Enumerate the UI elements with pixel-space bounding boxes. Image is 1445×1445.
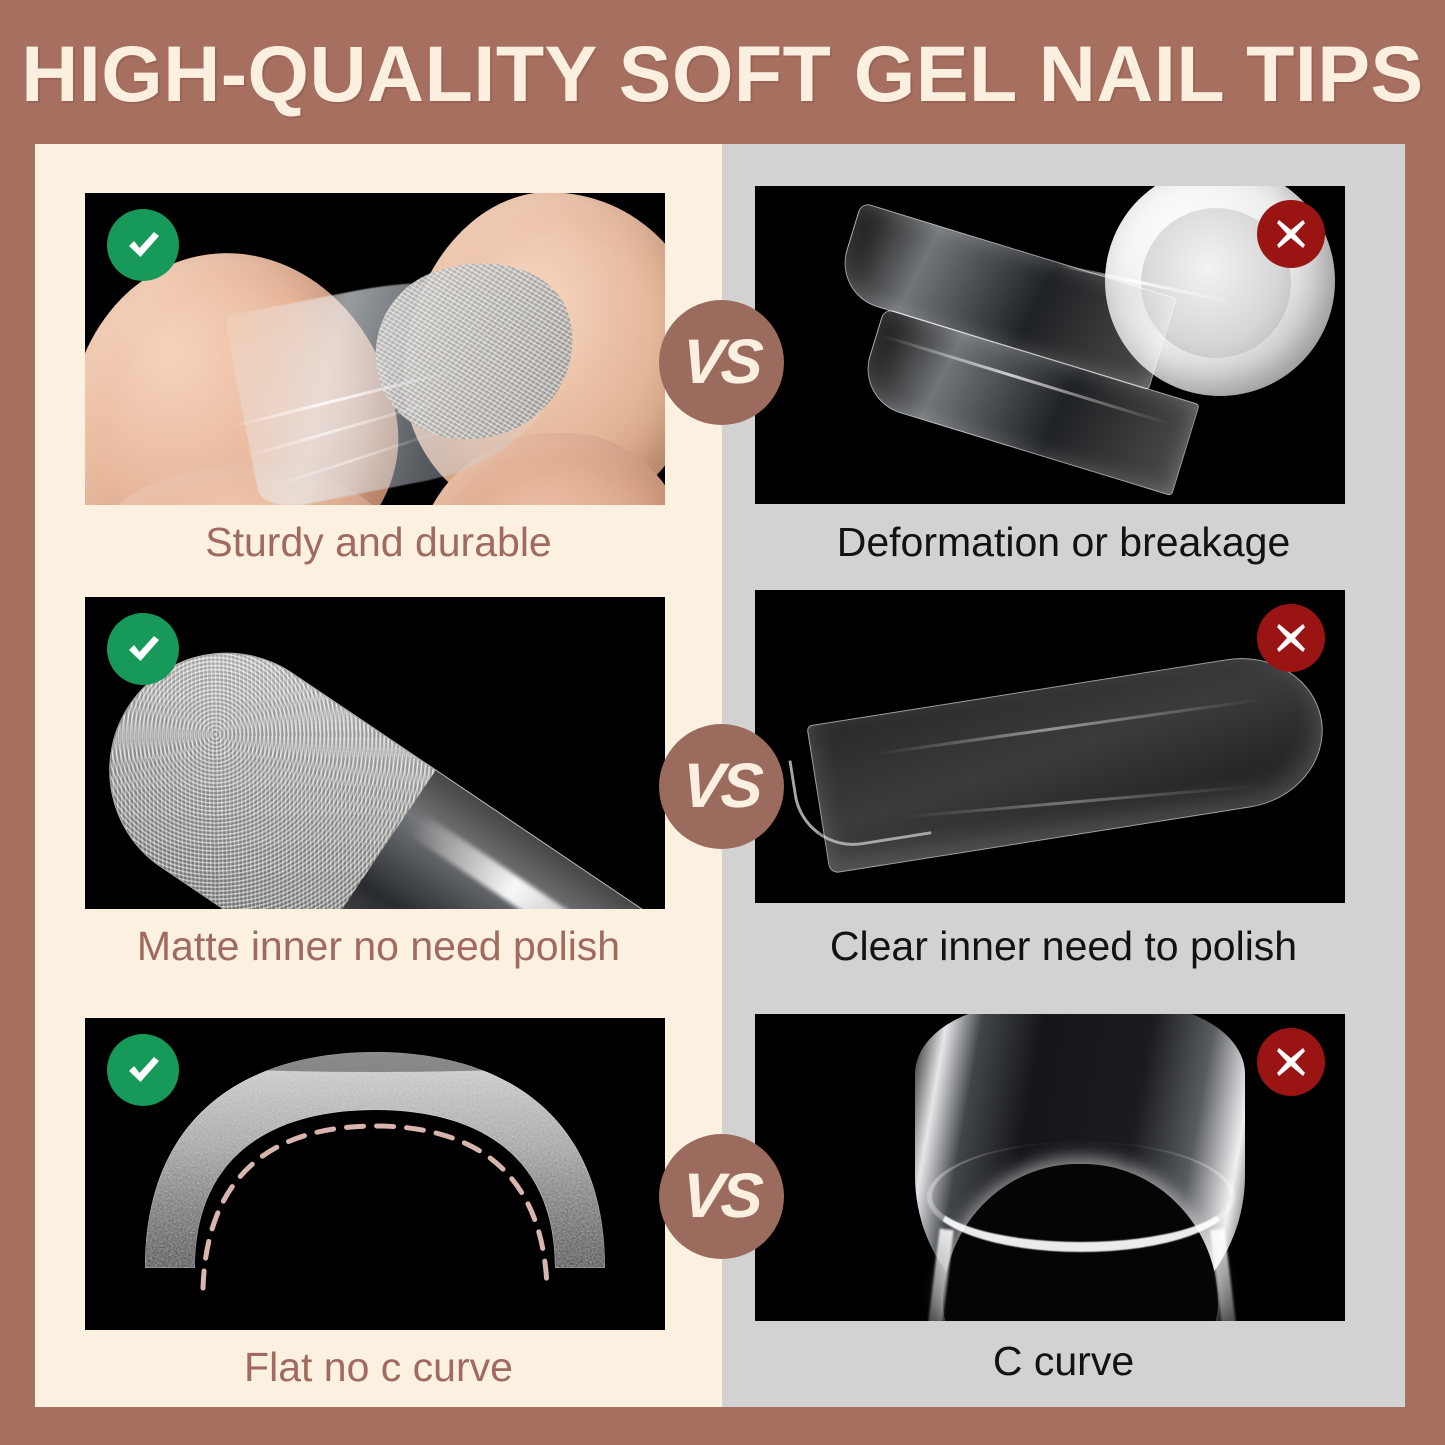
close-icon: [1270, 213, 1312, 255]
vs-badge-row-2: VS: [659, 724, 784, 849]
comparison-row-3-good: Flat no c curve: [35, 992, 722, 1407]
check-icon: [121, 223, 165, 267]
vs-label: VS: [680, 1165, 762, 1228]
photo-clear-inner: [755, 590, 1345, 903]
comparison-row-2-bad: Clear inner need to polish: [722, 568, 1405, 992]
photo-c-curve: [755, 1014, 1345, 1321]
caption-deformation-breakage: Deformation or breakage: [722, 516, 1405, 568]
comparison-row-1-bad: Deformation or breakage: [722, 144, 1405, 568]
check-badge: [107, 1034, 179, 1106]
caption-clear-inner: Clear inner need to polish: [722, 920, 1405, 972]
check-badge: [107, 613, 179, 685]
vs-label: VS: [680, 755, 762, 818]
flat-profile-dashed-line: [203, 1126, 547, 1288]
photo-deformation-breakage: [755, 186, 1345, 504]
caption-sturdy-durable: Sturdy and durable: [35, 516, 722, 568]
check-badge: [107, 209, 179, 281]
photo-flat-no-c-curve: [85, 1018, 665, 1330]
comparison-row-2-good: Matte inner no need polish: [35, 568, 722, 992]
vs-badge-row-1: VS: [659, 300, 784, 425]
check-icon: [121, 627, 165, 671]
close-icon: [1270, 617, 1312, 659]
check-icon: [121, 1048, 165, 1092]
vs-badge-row-3: VS: [659, 1134, 784, 1259]
comparison-row-1-good: Sturdy and durable: [35, 144, 722, 568]
good-column: Sturdy and durable Matte inner n: [35, 144, 722, 1407]
caption-c-curve: C curve: [722, 1335, 1405, 1387]
vs-label: VS: [680, 331, 762, 394]
caption-matte-inner: Matte inner no need polish: [35, 920, 722, 972]
cross-badge: [1257, 604, 1325, 672]
cross-badge: [1257, 1028, 1325, 1096]
close-icon: [1270, 1041, 1312, 1083]
comparison-frame: Sturdy and durable Matte inner n: [35, 144, 1405, 1407]
photo-sturdy-durable: [85, 193, 665, 505]
photo-matte-inner: [85, 597, 665, 909]
page-title: HIGH-QUALITY SOFT GEL NAIL TIPS: [0, 26, 1445, 122]
bad-column: Deformation or breakage Clear inner need…: [722, 144, 1405, 1407]
comparison-row-3-bad: C curve: [722, 992, 1405, 1407]
caption-flat-no-c-curve: Flat no c curve: [35, 1341, 722, 1393]
cross-badge: [1257, 200, 1325, 268]
